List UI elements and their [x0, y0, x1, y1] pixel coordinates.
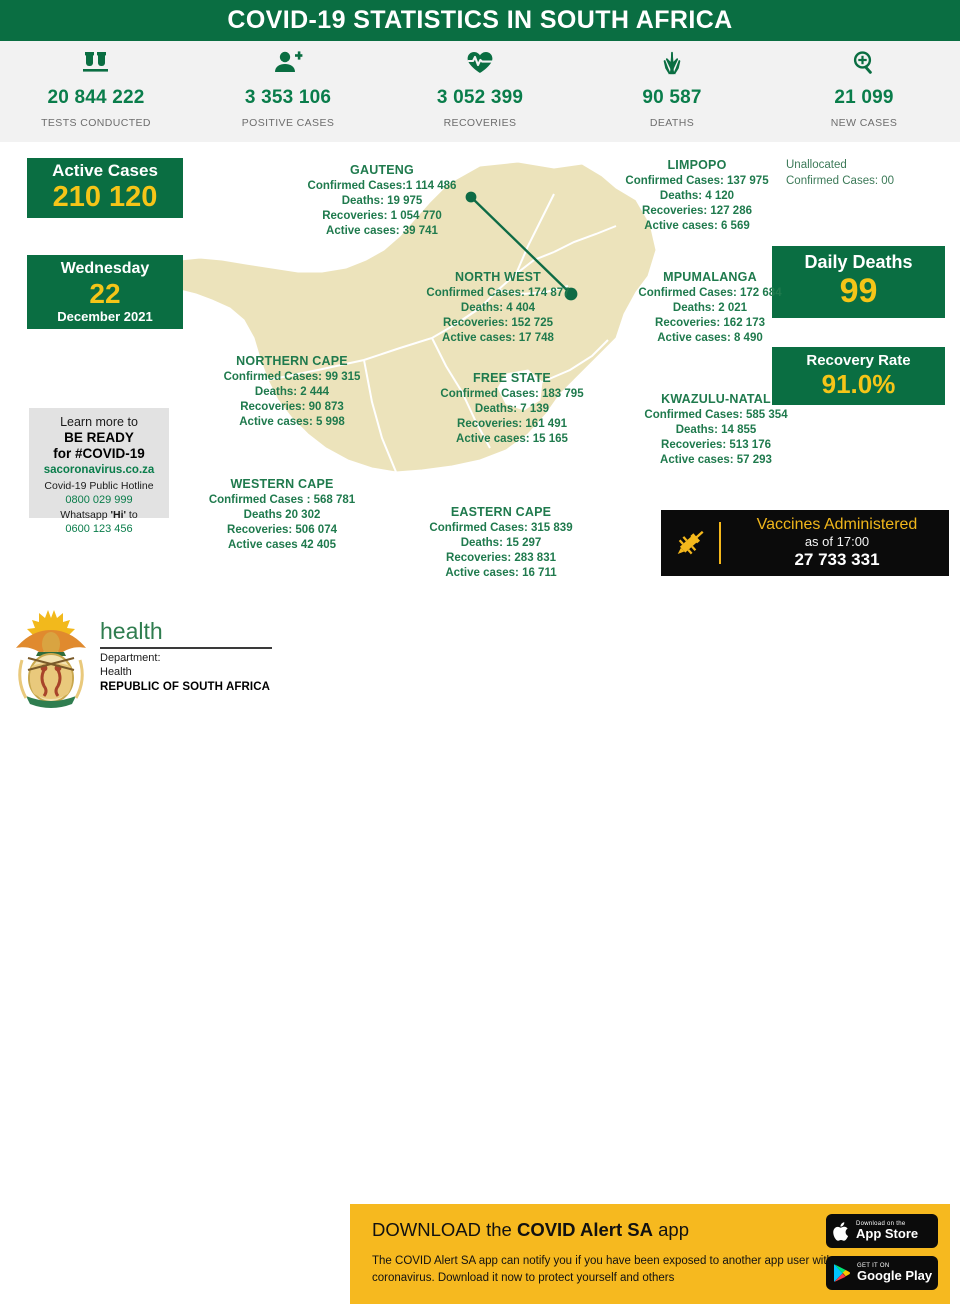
- test-tubes-icon: [81, 48, 111, 78]
- be-ready-line3: for #COVID-19: [35, 446, 163, 462]
- be-ready-whatsapp-label: Whatsapp 'Hi' to: [35, 508, 163, 522]
- active-cases-value: 210 120: [53, 182, 158, 214]
- province-deaths: Deaths: 4 404: [390, 301, 606, 316]
- province-confirmed: Confirmed Cases : 568 781: [178, 493, 386, 508]
- covid-alert-app-banner: DOWNLOAD the COVID Alert SA app The COVI…: [350, 1204, 950, 1304]
- province-name: LIMPOPO: [590, 157, 804, 174]
- province-recoveries: Recoveries: 162 173: [604, 316, 816, 331]
- province-northern-cape: NORTHERN CAPE Confirmed Cases: 99 315 De…: [188, 353, 396, 431]
- province-name: KWAZULU-NATAL: [608, 391, 824, 408]
- health-rule: [100, 647, 272, 649]
- province-name: NORTHERN CAPE: [188, 353, 396, 370]
- magnifier-plus-icon: [849, 48, 879, 78]
- syringe-icon: [661, 526, 719, 560]
- province-name: WESTERN CAPE: [178, 476, 386, 493]
- province-gauteng: GAUTENG Confirmed Cases:1 114 486 Deaths…: [282, 162, 482, 240]
- stat-value: 20 844 222: [47, 87, 144, 109]
- province-name: EASTERN CAPE: [394, 504, 608, 521]
- summary-stats-strip: 20 844 222 TESTS CONDUCTED 3 353 106 POS…: [0, 41, 960, 142]
- google-play-icon: [833, 1263, 851, 1283]
- daily-deaths-title: Daily Deaths: [804, 253, 912, 273]
- province-name: MPUMALANGA: [604, 269, 816, 286]
- health-word: health: [100, 620, 272, 643]
- date-box: Wednesday 22 December 2021: [27, 255, 183, 329]
- stat-value: 3 353 106: [245, 87, 331, 109]
- apple-icon: [833, 1221, 850, 1242]
- province-deaths: Deaths: 15 297: [394, 536, 608, 551]
- province-kwazulu-natal: KWAZULU-NATAL Confirmed Cases: 585 354 D…: [608, 391, 824, 469]
- province-recoveries: Recoveries: 152 725: [390, 316, 606, 331]
- province-active: Active cases 42 405: [178, 538, 386, 553]
- google-play-text: GET IT ON Google Play: [857, 1263, 932, 1284]
- province-eastern-cape: EASTERN CAPE Confirmed Cases: 315 839 De…: [394, 504, 608, 582]
- province-deaths: Deaths: 7 139: [412, 402, 612, 417]
- unallocated-note: Unallocated Confirmed Cases: 00: [786, 157, 960, 190]
- province-western-cape: WESTERN CAPE Confirmed Cases : 568 781 D…: [178, 476, 386, 554]
- province-deaths: Deaths: 4 120: [590, 189, 804, 204]
- health-department-logo: health Department: Health REPUBLIC OF SO…: [8, 605, 338, 710]
- province-deaths: Deaths: 2 444: [188, 385, 396, 400]
- province-recoveries: Recoveries: 513 176: [608, 438, 824, 453]
- person-plus-icon: [273, 48, 303, 78]
- stat-new-cases: 21 099 NEW CASES: [768, 41, 960, 129]
- heart-pulse-icon: [465, 48, 495, 78]
- province-limpopo: LIMPOPO Confirmed Cases: 137 975 Deaths:…: [590, 157, 804, 235]
- date-month-year: December 2021: [57, 309, 152, 324]
- province-mpumalanga: MPUMALANGA Confirmed Cases: 172 684 Deat…: [604, 269, 816, 347]
- province-active: Active cases: 15 165: [412, 432, 612, 447]
- province-deaths: Deaths 20 302: [178, 508, 386, 523]
- province-active: Active cases: 5 998: [188, 415, 396, 430]
- province-confirmed: Confirmed Cases: 137 975: [590, 174, 804, 189]
- stat-value: 21 099: [834, 87, 893, 109]
- province-recoveries: Recoveries: 1 054 770: [282, 209, 482, 224]
- unallocated-line1: Unallocated: [786, 157, 960, 173]
- health-country: REPUBLIC OF SOUTH AFRICA: [100, 680, 272, 695]
- app-banner-body: The COVID Alert SA app can notify you if…: [372, 1253, 852, 1288]
- praying-hands-icon: [657, 48, 687, 78]
- stat-tests-conducted: 20 844 222 TESTS CONDUCTED: [0, 41, 192, 129]
- province-confirmed: Confirmed Cases: 174 877: [390, 286, 606, 301]
- unallocated-line2: Confirmed Cases: 00: [786, 173, 960, 189]
- google-play-small: GET IT ON: [857, 1263, 932, 1270]
- vaccines-value: 27 733 331: [725, 550, 949, 570]
- app-store-badge[interactable]: Download on the App Store: [826, 1214, 938, 1248]
- stat-deaths: 90 587 DEATHS: [576, 41, 768, 129]
- province-confirmed: Confirmed Cases:1 114 486: [282, 179, 482, 194]
- be-ready-hotline-label: Covid-19 Public Hotline: [35, 479, 163, 493]
- province-active: Active cases: 39 741: [282, 224, 482, 239]
- app-store-big: App Store: [856, 1227, 918, 1241]
- be-ready-website[interactable]: sacoronavirus.co.za: [35, 462, 163, 479]
- province-deaths: Deaths: 19 975: [282, 194, 482, 209]
- health-dept-line1: Department:: [100, 652, 272, 666]
- province-active: Active cases: 6 569: [590, 219, 804, 234]
- stat-recoveries: 3 052 399 RECOVERIES: [384, 41, 576, 129]
- stat-positive-cases: 3 353 106 POSITIVE CASES: [192, 41, 384, 129]
- be-ready-whatsapp-number: 0600 123 456: [35, 522, 163, 537]
- stat-value: 90 587: [642, 87, 701, 109]
- province-recoveries: Recoveries: 506 074: [178, 523, 386, 538]
- stat-label: DEATHS: [650, 117, 694, 129]
- google-play-badge[interactable]: GET IT ON Google Play: [826, 1256, 938, 1290]
- province-confirmed: Confirmed Cases: 99 315: [188, 370, 396, 385]
- province-free-state: FREE STATE Confirmed Cases: 183 795 Deat…: [412, 370, 612, 448]
- province-name: GAUTENG: [282, 162, 482, 179]
- health-wordmark: health Department: Health REPUBLIC OF SO…: [100, 620, 272, 694]
- date-day: 22: [89, 279, 120, 308]
- province-recoveries: Recoveries: 90 873: [188, 400, 396, 415]
- vaccines-administered-box: Vaccines Administered as of 17:00 27 733…: [661, 510, 949, 576]
- coat-of-arms-icon: [8, 608, 94, 708]
- app-banner-heading: DOWNLOAD the COVID Alert SA app: [372, 1219, 689, 1241]
- province-name: FREE STATE: [412, 370, 612, 387]
- vaccines-text-block: Vaccines Administered as of 17:00 27 733…: [721, 516, 949, 570]
- be-ready-line2: BE READY: [35, 430, 163, 446]
- stat-label: TESTS CONDUCTED: [41, 117, 151, 129]
- active-cases-title: Active Cases: [52, 162, 158, 181]
- stat-value: 3 052 399: [437, 87, 523, 109]
- province-confirmed: Confirmed Cases: 172 684: [604, 286, 816, 301]
- infographic-root: COVID-19 STATISTICS IN SOUTH AFRICA 20 8…: [0, 0, 960, 720]
- stat-label: NEW CASES: [831, 117, 898, 129]
- google-play-big: Google Play: [857, 1269, 932, 1283]
- vaccines-subtitle: as of 17:00: [725, 534, 949, 550]
- province-active: Active cases: 57 293: [608, 453, 824, 468]
- be-ready-hotline-number: 0800 029 999: [35, 493, 163, 508]
- province-recoveries: Recoveries: 127 286: [590, 204, 804, 219]
- province-recoveries: Recoveries: 283 831: [394, 551, 608, 566]
- stat-label: POSITIVE CASES: [242, 117, 335, 129]
- page-title: COVID-19 STATISTICS IN SOUTH AFRICA: [227, 6, 732, 35]
- province-deaths: Deaths: 14 855: [608, 423, 824, 438]
- province-north-west: NORTH WEST Confirmed Cases: 174 877 Deat…: [390, 269, 606, 347]
- page-header: COVID-19 STATISTICS IN SOUTH AFRICA: [0, 0, 960, 41]
- stat-label: RECOVERIES: [444, 117, 517, 129]
- date-weekday: Wednesday: [61, 260, 150, 278]
- province-deaths: Deaths: 2 021: [604, 301, 816, 316]
- province-recoveries: Recoveries: 161 491: [412, 417, 612, 432]
- store-badges: Download on the App Store GET IT ON Goog…: [826, 1214, 938, 1298]
- province-active: Active cases: 16 711: [394, 566, 608, 581]
- province-confirmed: Confirmed Cases: 585 354: [608, 408, 824, 423]
- province-confirmed: Confirmed Cases: 315 839: [394, 521, 608, 536]
- recovery-rate-value: 91.0%: [822, 370, 896, 399]
- province-name: NORTH WEST: [390, 269, 606, 286]
- recovery-rate-title: Recovery Rate: [806, 353, 910, 370]
- app-store-text: Download on the App Store: [856, 1221, 918, 1242]
- daily-deaths-value: 99: [840, 273, 878, 310]
- app-store-small: Download on the: [856, 1221, 918, 1228]
- be-ready-line1: Learn more to: [35, 415, 163, 430]
- province-active: Active cases: 17 748: [390, 331, 606, 346]
- be-ready-info-box[interactable]: Learn more to BE READY for #COVID-19 sac…: [29, 408, 169, 518]
- vaccines-title: Vaccines Administered: [725, 516, 949, 534]
- page-footer: health Department: Health REPUBLIC OF SO…: [0, 600, 960, 720]
- province-active: Active cases: 8 490: [604, 331, 816, 346]
- health-dept-line2: Health: [100, 666, 272, 680]
- map-panel: Active Cases 210 120 Wednesday 22 Decemb…: [0, 142, 960, 600]
- active-cases-box: Active Cases 210 120: [27, 158, 183, 218]
- province-confirmed: Confirmed Cases: 183 795: [412, 387, 612, 402]
